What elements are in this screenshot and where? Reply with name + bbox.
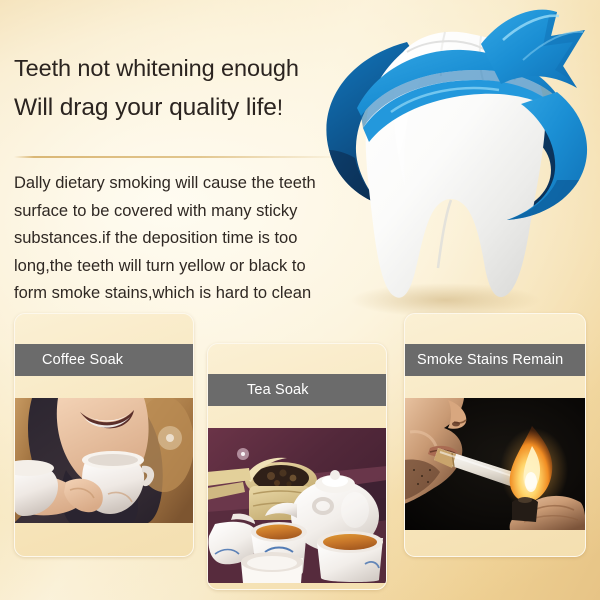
- card-coffee-soak-photo: [15, 398, 193, 523]
- card-tea-soak-label: Tea Soak: [247, 382, 309, 398]
- promo-poster: Teeth not whitening enough Will drag you…: [0, 0, 600, 600]
- headline-exclamation: !: [277, 95, 283, 120]
- card-smoke-stains-remain-band: Smoke Stains Remain: [405, 344, 585, 376]
- card-coffee-soak[interactable]: Coffee Soak: [14, 313, 194, 557]
- card-tea-soak[interactable]: Tea Soak: [207, 343, 387, 590]
- tooth-artwork: [295, 0, 600, 320]
- card-coffee-soak-label: Coffee Soak: [42, 352, 123, 368]
- card-smoke-stains-remain[interactable]: Smoke Stains Remain: [404, 313, 586, 557]
- card-smoke-stains-remain-label: Smoke Stains Remain: [417, 352, 563, 368]
- card-coffee-soak-band: Coffee Soak: [15, 344, 193, 376]
- card-tea-soak-band: Tea Soak: [208, 374, 386, 406]
- headline-line-2-text: Will drag your quality life: [14, 94, 277, 121]
- card-smoke-stains-remain-photo: [405, 398, 585, 530]
- card-tea-soak-photo: [208, 428, 386, 583]
